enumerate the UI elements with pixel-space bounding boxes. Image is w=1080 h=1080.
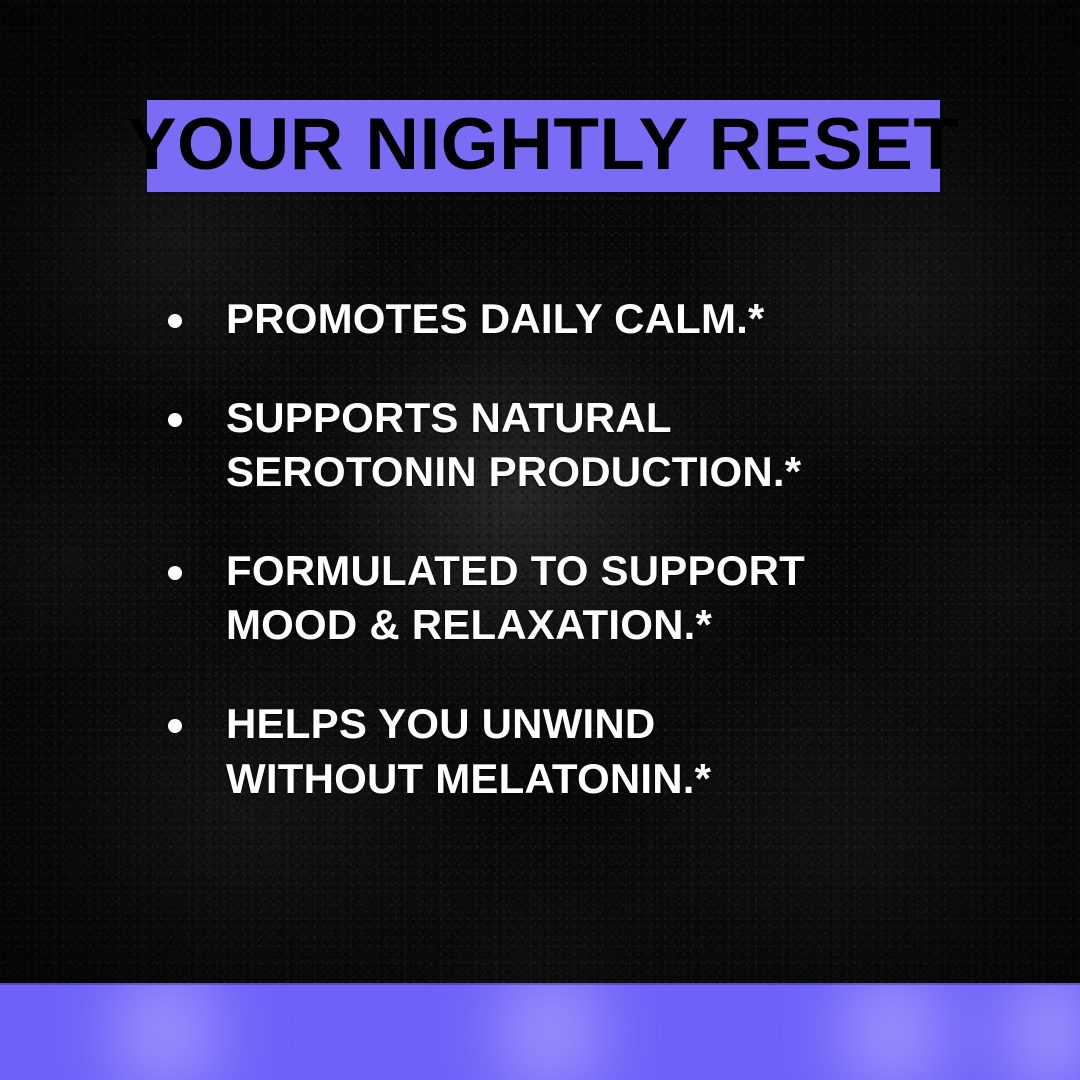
headline-banner: YOUR NIGHTLY RESET xyxy=(147,100,940,192)
benefit-text: HELPS YOU UNWIND WITHOUT MELATONIN.* xyxy=(226,697,1028,806)
bullet-dot-icon xyxy=(168,719,182,733)
list-item: FORMULATED TO SUPPORT MOOD & RELAXATION.… xyxy=(168,544,1028,653)
list-item: PROMOTES DAILY CALM.* xyxy=(168,292,1028,347)
list-item: HELPS YOU UNWIND WITHOUT MELATONIN.* xyxy=(168,697,1028,806)
benefits-list: PROMOTES DAILY CALM.* SUPPORTS NATURAL S… xyxy=(168,292,1028,806)
bottom-accent-band xyxy=(0,983,1080,1080)
benefit-text: FORMULATED TO SUPPORT MOOD & RELAXATION.… xyxy=(226,544,1028,653)
list-item: SUPPORTS NATURAL SEROTONIN PRODUCTION.* xyxy=(168,391,1028,500)
bullet-dot-icon xyxy=(168,566,182,580)
benefit-text: PROMOTES DAILY CALM.* xyxy=(226,292,1028,347)
bullet-dot-icon xyxy=(168,413,182,427)
infographic-page: YOUR NIGHTLY RESET PROMOTES DAILY CALM.*… xyxy=(0,0,1080,1080)
band-top-edge xyxy=(0,983,1080,985)
band-wave-highlights xyxy=(0,983,1080,1080)
benefit-text: SUPPORTS NATURAL SEROTONIN PRODUCTION.* xyxy=(226,391,1028,500)
bullet-dot-icon xyxy=(168,314,182,328)
content-layer: YOUR NIGHTLY RESET PROMOTES DAILY CALM.*… xyxy=(0,0,1080,1080)
page-title: YOUR NIGHTLY RESET xyxy=(127,108,960,184)
